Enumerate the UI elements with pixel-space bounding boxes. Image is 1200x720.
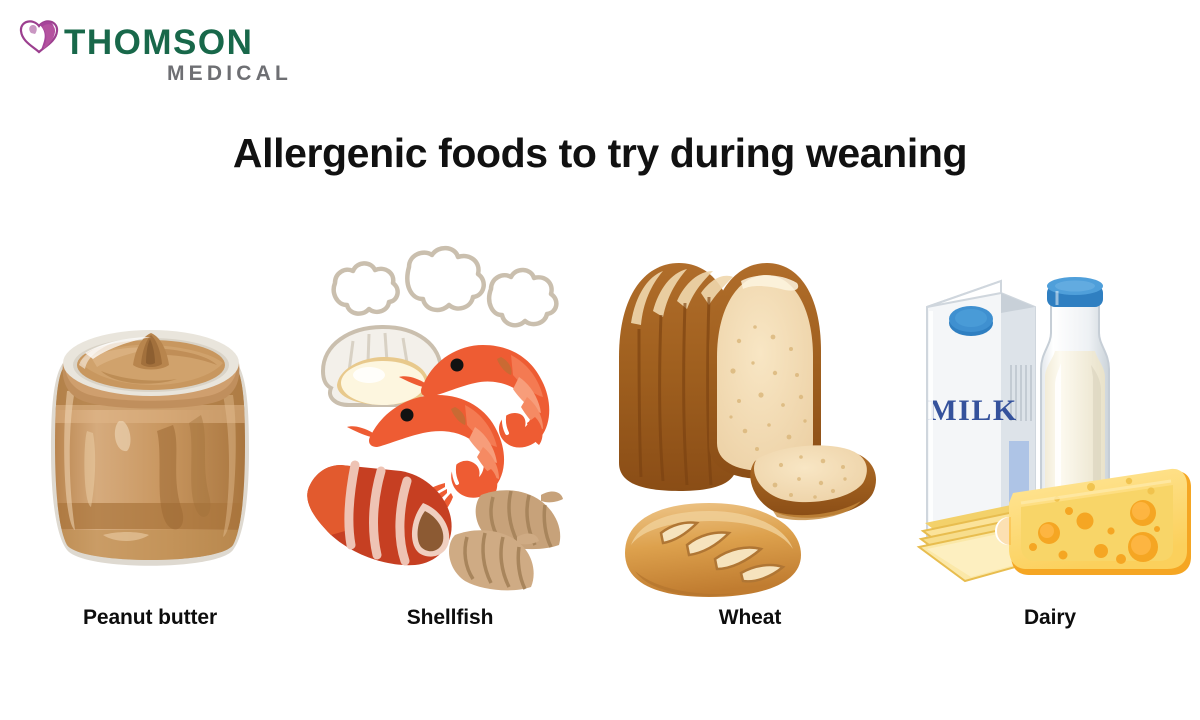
page-title: Allergenic foods to try during weaning [0,130,1200,177]
baguette-loaf [625,503,801,597]
brand-logo: THOMSON MEDICAL [18,18,298,94]
food-card-peanut-butter: Peanut butter [0,245,300,685]
brand-name-primary: THOMSON [64,24,294,62]
dairy-illustration: MILK [905,245,1195,600]
food-card-shellfish: Shellfish [300,245,600,685]
milk-carton-text: MILK [928,394,1017,427]
peanut-butter-jar-illustration [5,245,295,600]
food-card-dairy: MILK [900,245,1200,685]
brand-wordmark: THOMSON MEDICAL [64,24,294,86]
food-card-wheat: Wheat [600,245,900,685]
food-label-wheat: Wheat [719,606,782,630]
food-grid: Peanut butter [0,245,1200,685]
food-label-peanut-butter: Peanut butter [83,606,217,630]
brand-name-secondary: MEDICAL [64,62,294,86]
bread-slice [750,445,876,520]
lobster-tail [307,465,451,565]
clams [449,490,563,590]
food-label-shellfish: Shellfish [407,606,494,630]
butterfly-logo-mark-icon [18,20,62,62]
squid-rings [334,248,557,325]
shellfish-illustration [305,245,595,600]
bread-illustration [605,245,895,600]
food-label-dairy: Dairy [1024,606,1076,630]
